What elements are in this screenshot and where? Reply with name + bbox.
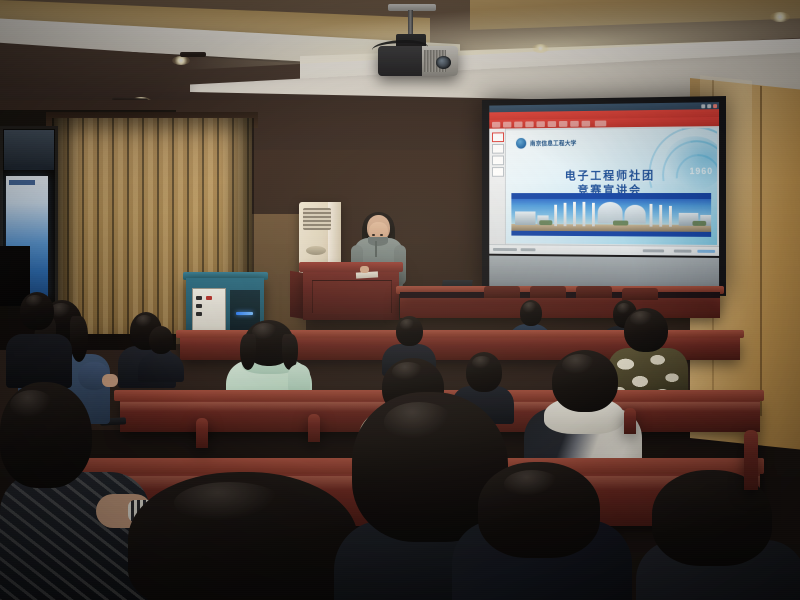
ribbon-tab-file[interactable] — [492, 121, 500, 127]
chair-back — [530, 286, 566, 298]
ribbon-tab-review[interactable] — [570, 120, 579, 126]
projector-lens-icon — [436, 56, 451, 69]
ceiling-vent — [180, 52, 206, 57]
ac-brand-badge — [306, 246, 326, 255]
projection-screen: 1960 南京信息工程大学 电子工程师社团 竞赛宣讲会 2023.4.4 — [482, 96, 726, 296]
bench-end-post — [744, 430, 758, 490]
ac-vent-grill — [303, 208, 331, 230]
minimize-icon[interactable] — [701, 104, 705, 108]
downlight-icon — [770, 12, 790, 22]
window-glass — [4, 130, 54, 170]
university-name: 南京信息工程大学 — [530, 138, 577, 147]
ribbon-tab-design[interactable] — [525, 121, 533, 127]
slide-thumbnail[interactable] — [492, 132, 504, 142]
wps-office-window: 1960 南京信息工程大学 电子工程师社团 竞赛宣讲会 2023.4.4 — [489, 102, 719, 256]
ribbon-tab-slideshow[interactable] — [559, 120, 567, 126]
bench-divider — [624, 408, 636, 434]
slide-thumbnail-pane[interactable] — [489, 128, 506, 245]
ribbon-tab-insert[interactable] — [514, 121, 522, 127]
chair-back — [576, 286, 612, 298]
ribbon-tab-transition[interactable] — [536, 121, 544, 127]
ribbon-tab-home[interactable] — [503, 121, 511, 127]
wall-panel-seam — [760, 86, 762, 416]
student-s2 — [6, 292, 72, 384]
chair-back — [484, 286, 520, 298]
close-icon[interactable] — [713, 104, 717, 108]
downlight-icon — [172, 56, 190, 65]
university-logo: 南京信息工程大学 — [515, 136, 576, 149]
presenter-hand — [360, 266, 369, 273]
bench-divider — [196, 418, 208, 448]
student-back-left — [138, 326, 184, 378]
logo-badge-icon — [515, 137, 527, 150]
status-led — [236, 312, 253, 315]
campus-gate-photo — [511, 193, 711, 237]
maximize-icon[interactable] — [707, 104, 711, 108]
ribbon-tab-animation[interactable] — [548, 121, 556, 127]
slide-title-line-1: 电子工程师社团 — [506, 168, 717, 183]
lecture-hall-photo: 1960 南京信息工程大学 电子工程师社团 竞赛宣讲会 2023.4.4 — [0, 0, 800, 600]
student-right-front — [636, 470, 800, 600]
ribbon-tab-member[interactable] — [595, 120, 606, 126]
ribbon-tab-view[interactable] — [582, 120, 591, 126]
student-s4 — [128, 472, 358, 600]
chair-back — [622, 288, 658, 300]
presentation-slide: 1960 南京信息工程大学 电子工程师社团 竞赛宣讲会 2023.4.4 — [506, 128, 717, 245]
bench-divider — [308, 414, 320, 442]
downlight-icon — [532, 44, 549, 53]
student-s9b — [452, 462, 632, 600]
slide-thumbnail[interactable] — [492, 144, 504, 154]
slide-thumbnail[interactable] — [492, 167, 504, 177]
slide-thumbnail[interactable] — [492, 156, 504, 166]
